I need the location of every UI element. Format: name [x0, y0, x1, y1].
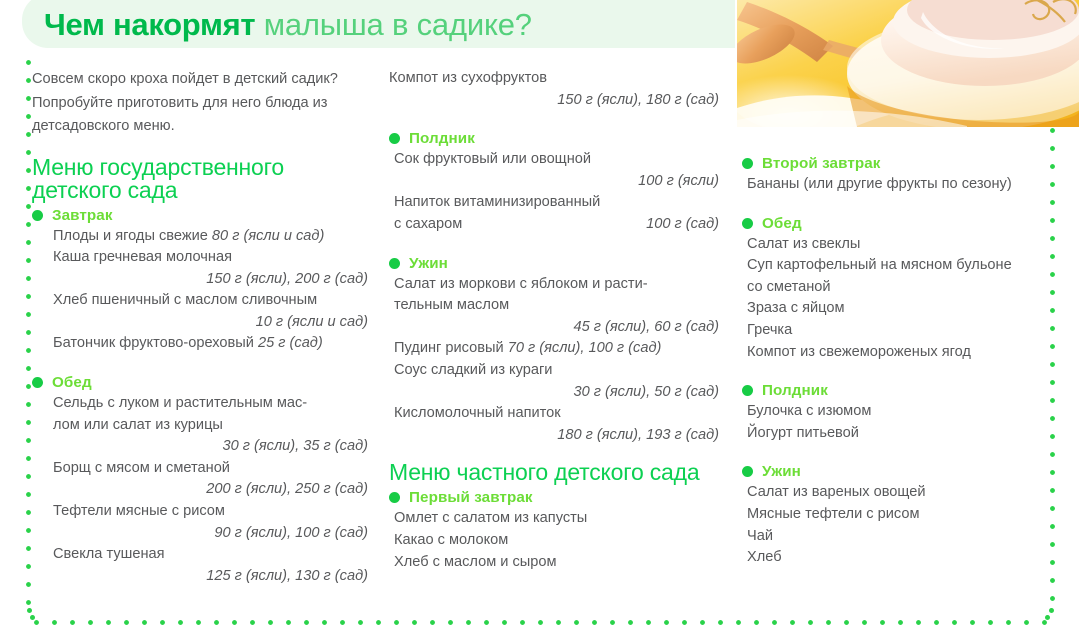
dish-row: с сахаром100 г (сад)	[389, 214, 719, 236]
meal-header: Полдник	[389, 129, 719, 148]
cup-and-saucer-photo	[737, 0, 1079, 127]
dish-name-cont: со сметаной	[742, 277, 1054, 299]
dish-name: Хлеб с маслом и сыром	[389, 552, 719, 574]
meal-block-breakfast: Завтрак Плоды и ягоды свежие 80 г (ясли …	[32, 206, 368, 356]
dish-name: Кисломолочный напиток	[389, 403, 719, 425]
bullet-icon	[742, 385, 753, 396]
meal-block-first-breakfast: Первый завтрак Омлет с салатом из капуст…	[389, 488, 719, 573]
meal-label-breakfast: Завтрак	[52, 206, 113, 225]
bullet-icon	[742, 218, 753, 229]
column-2: Компот из сухофруктов 150 г (ясли), 180 …	[389, 68, 719, 573]
dish-amount: 30 г (ясли), 50 г (сад)	[389, 382, 719, 404]
meal-header: Полдник	[742, 381, 1054, 400]
menu-heading-private: Меню частного детского сада	[389, 461, 719, 484]
meal-label-afternoon-snack: Полдник	[409, 129, 475, 148]
bullet-icon	[389, 258, 400, 269]
corner-dot-bottom-left-b	[30, 615, 35, 620]
dish-name-cont: с сахаром	[394, 214, 462, 236]
bullet-icon	[742, 466, 753, 477]
meal-block-second-breakfast: Второй завтрак Бананы (или другие фрукты…	[742, 154, 1054, 196]
meal-label-dinner: Ужин	[409, 254, 448, 273]
meal-header: Обед	[742, 214, 1054, 233]
bullet-icon	[32, 377, 43, 388]
meal-label-dinner: Ужин	[762, 462, 801, 481]
bullet-icon	[389, 492, 400, 503]
dish-amount: 30 г (ясли), 35 г (сад)	[32, 436, 368, 458]
meal-header: Первый завтрак	[389, 488, 719, 507]
meal-header: Ужин	[389, 254, 719, 273]
page-title-rest: малыша в садике?	[255, 7, 531, 42]
dish-name: Хлеб пшеничный с маслом сливочным	[32, 290, 368, 312]
dish-amount: 25 г (сад)	[258, 335, 323, 351]
meal-header: Второй завтрак	[742, 154, 1054, 173]
page-title: Чем накормят малыша в садике?	[44, 4, 532, 46]
dish-name: Чай	[742, 526, 1054, 548]
dish-amount: 90 г (ясли), 100 г (сад)	[32, 523, 368, 545]
meal-block-lunch: Обед Сельдь с луком и растительным мас- …	[32, 373, 368, 587]
dish-name: Мясные тефтели с рисом	[742, 504, 1054, 526]
dish-amount: 100 г (ясли)	[389, 171, 719, 193]
dish-name-cont: тельным маслом	[389, 295, 719, 317]
dish-name: Напиток витаминизированный	[389, 192, 719, 214]
dish-amount: 125 г (ясли), 130 г (сад)	[32, 566, 368, 588]
meal-block-afternoon-snack: Полдник Сок фруктовый или овощной 100 г …	[389, 129, 719, 235]
dish-amount: 10 г (ясли и сад)	[32, 312, 368, 334]
intro-paragraph: Совсем скоро кроха пойдет в детский сади…	[32, 68, 368, 139]
dish-name: Салат из свеклы	[742, 234, 1054, 256]
dish-name: Суп картофельный на мясном бульоне	[742, 255, 1054, 277]
dish-name: Гречка	[742, 320, 1054, 342]
border-dots-bottom	[34, 620, 1048, 625]
dish-name: Какао с молоком	[389, 530, 719, 552]
dish-row: Батончик фруктово-ореховый 25 г (сад)	[32, 333, 368, 355]
article-page: Чем накормят малыша в садике?	[0, 0, 1079, 636]
bullet-icon	[742, 158, 753, 169]
dish-name: Батончик фруктово-ореховый	[53, 335, 258, 351]
corner-dot-bottom-right-a	[1049, 608, 1054, 613]
bullet-icon	[32, 210, 43, 221]
dish-name: Салат из вареных овощей	[742, 482, 1054, 504]
dish-name: Омлет с салатом из капусты	[389, 508, 719, 530]
dish-name: Каша гречневая молочная	[32, 247, 368, 269]
dish-name: Зраза с яйцом	[742, 298, 1054, 320]
dish-name: Сок фруктовый или овощной	[389, 149, 719, 171]
dish-amount: 200 г (ясли), 250 г (сад)	[32, 479, 368, 501]
dish-name: Свекла тушеная	[32, 544, 368, 566]
dish-amount: 70 г (ясли), 100 г (сад)	[508, 340, 662, 356]
meal-header: Завтрак	[32, 206, 368, 225]
dish-name: Тефтели мясные с рисом	[32, 501, 368, 523]
bullet-icon	[389, 133, 400, 144]
column-1: Совсем скоро кроха пойдет в детский сади…	[32, 68, 368, 587]
dish-name: Бананы (или другие фрукты по сезону)	[742, 174, 1054, 196]
dish-name: Йогурт питьевой	[742, 423, 1054, 445]
dish-amount: 45 г (ясли), 60 г (сад)	[389, 317, 719, 339]
meal-block-dinner: Ужин Салат из вареных овощей Мясные тефт…	[742, 462, 1054, 568]
meal-label-lunch: Обед	[52, 373, 92, 392]
meal-block-lunch: Обед Салат из свеклы Суп картофельный на…	[742, 214, 1054, 364]
dish-amount: 80 г (ясли и сад)	[212, 228, 324, 244]
dish-name: Салат из моркови с яблоком и расти-	[389, 274, 719, 296]
meal-header: Обед	[32, 373, 368, 392]
border-dots-left	[26, 60, 31, 605]
meal-block-afternoon-snack: Полдник Булочка с изюмом Йогурт питьевой	[742, 381, 1054, 444]
meal-label-afternoon-snack: Полдник	[762, 381, 828, 400]
column-3: Второй завтрак Бананы (или другие фрукты…	[742, 150, 1054, 569]
dish-name-cont: лом или салат из курицы	[32, 415, 368, 437]
dish-amount: 100 г (сад)	[646, 214, 719, 236]
meal-label-first-breakfast: Первый завтрак	[409, 488, 533, 507]
meal-header: Ужин	[742, 462, 1054, 481]
dish-name: Булочка с изюмом	[742, 401, 1054, 423]
dish-name: Пудинг рисовый	[394, 340, 508, 356]
menu-heading-state: Меню государственного детского сада	[32, 156, 368, 202]
dish-amount: 150 г (ясли), 200 г (сад)	[32, 269, 368, 291]
corner-dot-bottom-left-a	[27, 608, 32, 613]
meal-block-dinner: Ужин Салат из моркови с яблоком и расти-…	[389, 254, 719, 447]
dish-amount: 180 г (ясли), 193 г (сад)	[389, 425, 719, 447]
dish-name: Борщ с мясом и сметаной	[32, 458, 368, 480]
dish-row: Пудинг рисовый 70 г (ясли), 100 г (сад)	[389, 338, 719, 360]
corner-dot-bottom-right-b	[1045, 615, 1050, 620]
meal-label-lunch: Обед	[762, 214, 802, 233]
dish-name: Сельдь с луком и растительным мас-	[32, 393, 368, 415]
dish-name: Хлеб	[742, 547, 1054, 569]
meal-label-second-breakfast: Второй завтрак	[762, 154, 881, 173]
dish-name: Компот из свежемороженых ягод	[742, 342, 1054, 364]
dish-name: Компот из сухофруктов	[389, 68, 719, 90]
border-dots-right	[1050, 128, 1055, 605]
page-title-strong: Чем накормят	[44, 7, 255, 42]
dish-name: Плоды и ягоды свежие	[53, 228, 212, 244]
dish-row: Плоды и ягоды свежие 80 г (ясли и сад)	[32, 226, 368, 248]
dish-amount: 150 г (ясли), 180 г (сад)	[389, 90, 719, 112]
dish-name: Соус сладкий из кураги	[389, 360, 719, 382]
